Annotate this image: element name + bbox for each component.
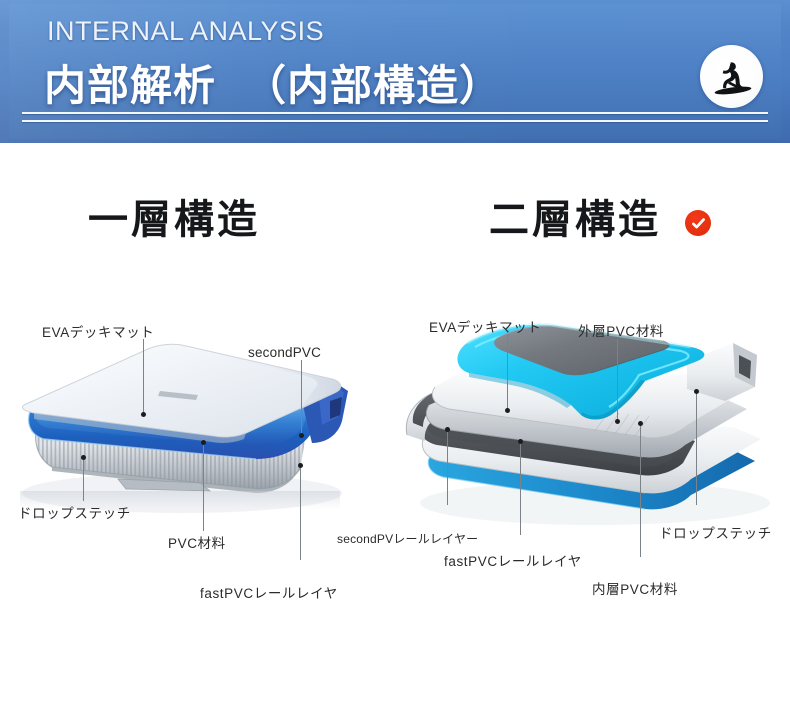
- leader-line-second-pvc: [301, 360, 302, 435]
- page-header-banner: INTERNAL ANALYSIS 内部解析（内部構造）: [0, 0, 790, 143]
- callout-label-inner-pvc: 内層PVC材料: [592, 583, 678, 597]
- page-title-paren: （内部構造）: [244, 62, 502, 109]
- section-title-single-layer: 一層構造: [88, 200, 260, 240]
- callout-dot-pvc: [201, 440, 206, 445]
- surfer-on-board-icon: [706, 51, 758, 103]
- recommended-badge: [685, 210, 711, 236]
- page-title: 内部解析（内部構造）: [44, 52, 502, 113]
- callout-label-pvc: PVC材料: [168, 537, 226, 551]
- leader-line-fast-pvc-rail: [300, 466, 301, 560]
- banner-eyebrow-text: INTERNAL ANALYSIS: [47, 16, 324, 47]
- section-title-double-layer: 二層構造: [489, 200, 661, 240]
- callout-label-fast-pvc-rail: fastPVCレールレイヤ: [200, 587, 338, 601]
- content-area: 一層構造: [0, 143, 790, 712]
- leader-line-pvc: [203, 443, 204, 531]
- callout-label-eva: EVAデッキマット: [42, 326, 154, 340]
- callout-dot-eva: [141, 412, 146, 417]
- callout-dot-fast-pvc-rail: [298, 463, 303, 468]
- callout-dot-second-pvc: [299, 433, 304, 438]
- banner-divider: [22, 112, 768, 126]
- page-title-main: 内部解析: [44, 62, 216, 109]
- callout-dot-second-pvc-rail: [445, 427, 450, 432]
- callout-dot-outer-pvc: [615, 419, 620, 424]
- check-circle-icon: [690, 215, 707, 232]
- brand-logo-badge: [700, 45, 763, 108]
- leader-line-inner-pvc: [640, 425, 641, 557]
- banner-divider-line-bottom: [22, 120, 768, 122]
- callout-label-second-pvc-rail: secondPVレールレイヤー: [337, 533, 478, 545]
- panel-single-layer: 一層構造: [0, 143, 395, 712]
- callout-dot-inner-pvc: [638, 421, 643, 426]
- leader-line-eva: [143, 339, 144, 414]
- banner-divider-line-top: [22, 112, 768, 114]
- callout-label-second-pvc: secondPVC: [248, 346, 321, 360]
- callout-dot-fast-pvc-rail-right: [518, 439, 523, 444]
- leader-line-fast-pvc-rail-right: [520, 443, 521, 535]
- leader-line-drop-stitch-right: [696, 393, 697, 505]
- callout-label-outer-pvc: 外層PVC材料: [578, 325, 664, 339]
- callout-label-fast-pvc-rail-right: fastPVCレールレイヤ: [444, 555, 582, 569]
- panel-double-layer: 二層構造: [395, 143, 790, 712]
- callout-dot-drop-stitch: [81, 455, 86, 460]
- leader-line-drop-stitch: [83, 459, 84, 501]
- callout-dot-drop-stitch-right: [694, 389, 699, 394]
- callout-label-drop-stitch: ドロップステッチ: [18, 507, 131, 521]
- callout-label-drop-stitch-right: ドロップステッチ: [659, 527, 772, 541]
- leader-line-eva-right: [507, 335, 508, 410]
- callout-dot-eva-right: [505, 408, 510, 413]
- leader-line-outer-pvc: [617, 339, 618, 421]
- callout-label-eva-right: EVAデッキマット: [429, 321, 541, 335]
- leader-line-second-pvc-rail: [447, 431, 448, 505]
